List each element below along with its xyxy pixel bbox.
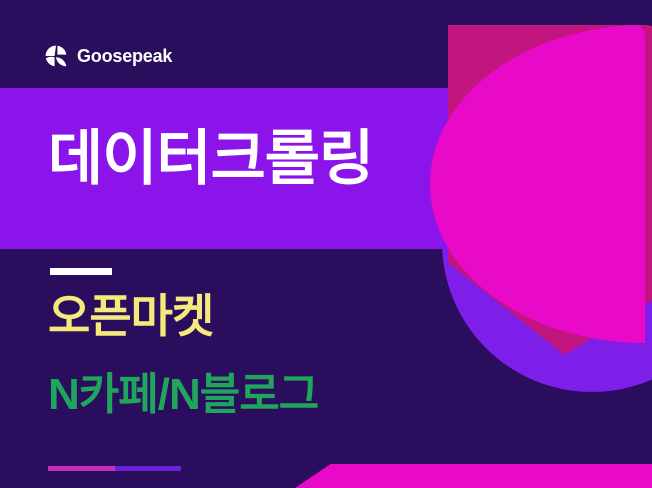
subheading-open-market: 오픈마켓 xyxy=(48,290,213,343)
pie-sphere-icon xyxy=(44,44,68,68)
brand-name: Goosepeak xyxy=(77,47,172,65)
subheading-naver-cafe-blog: N카페/N블로그 xyxy=(48,370,318,421)
footer-accent-segment-right xyxy=(115,466,182,471)
brand-logo: Goosepeak xyxy=(44,44,172,68)
page-title: 데이터크롤링 xyxy=(48,126,373,192)
footer-accent-bar xyxy=(48,466,181,471)
footer-accent-segment-left xyxy=(48,466,115,471)
promo-card: Goosepeak 데이터크롤링 오픈마켓 N카페/N블로그 xyxy=(0,0,652,488)
title-divider xyxy=(50,268,112,275)
card-content: Goosepeak 데이터크롤링 오픈마켓 N카페/N블로그 xyxy=(0,0,652,488)
